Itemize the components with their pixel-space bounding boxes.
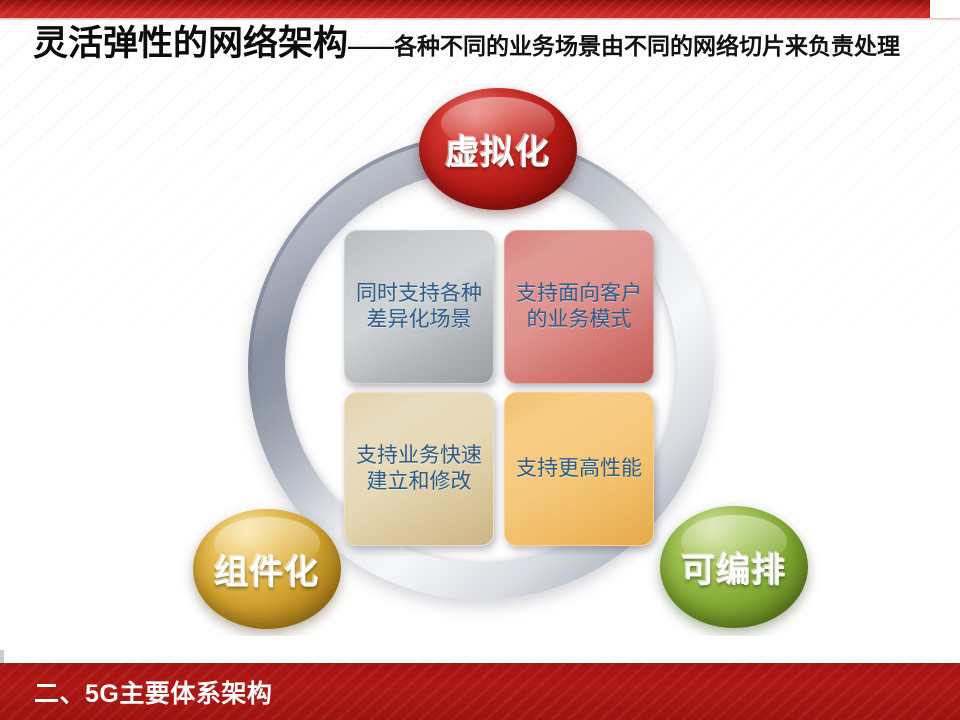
footer-bar: 二、5G主要体系架构 — [0, 663, 960, 720]
sphere-virtualization-label: 虚拟化 — [446, 125, 551, 174]
feature-box-bottom-right[interactable]: 支持更高性能 — [504, 392, 654, 546]
feature-box-bottom-left-label: 支持业务快速建立和修改 — [348, 443, 490, 494]
sphere-virtualization[interactable]: 虚拟化 — [419, 88, 577, 210]
slide: 灵活弹性的网络架构 ——各种不同的业务场景由不同的网络切片来负责处理 同时支持各… — [0, 0, 960, 720]
sphere-orchestration[interactable]: 可编排 — [660, 506, 808, 628]
feature-box-top-right-label: 支持面向客户的业务模式 — [508, 281, 650, 332]
feature-box-top-left[interactable]: 同时支持各种差异化场景 — [344, 230, 494, 384]
feature-box-top-left-label: 同时支持各种差异化场景 — [348, 281, 490, 332]
footer-gap — [0, 636, 960, 663]
sphere-orchestration-label: 可编排 — [682, 543, 787, 592]
sphere-componentization-label: 组件化 — [215, 545, 320, 594]
sphere-componentization[interactable]: 组件化 — [193, 509, 341, 629]
footer-section-label: 二、5G主要体系架构 — [34, 674, 272, 710]
feature-box-bottom-right-label: 支持更高性能 — [508, 456, 650, 482]
feature-box-bottom-left[interactable]: 支持业务快速建立和修改 — [344, 392, 494, 546]
diagram-graphic: 同时支持各种差异化场景 支持面向客户的业务模式 支持业务快速建立和修改 支持更高… — [0, 0, 960, 720]
footer-left-rule — [0, 650, 4, 663]
feature-box-top-right[interactable]: 支持面向客户的业务模式 — [504, 230, 654, 384]
